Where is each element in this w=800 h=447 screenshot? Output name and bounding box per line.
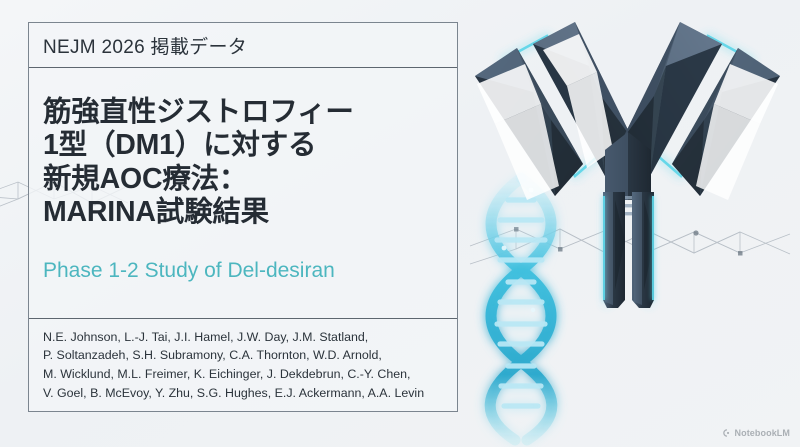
authors-line: M. Wicklund, M.L. Freimer, K. Eichinger,… (43, 365, 443, 384)
authors-line: N.E. Johnson, L.-J. Tai, J.I. Hamel, J.W… (43, 328, 443, 347)
card-body: 筋強直性ジストロフィー 1型（DM1）に対する 新規AOC療法： MARINA試… (29, 68, 457, 318)
molecular-artwork (455, 0, 800, 447)
dna-double-helix-icon (490, 178, 552, 440)
journal-source-label: NEJM 2026 掲載データ (43, 32, 443, 59)
title-line-1: 筋強直性ジストロフィー (43, 96, 443, 129)
notebooklm-watermark-label: NotebookLM (735, 428, 791, 438)
authors-line: V. Goel, B. McEvoy, Y. Zhu, S.G. Hughes,… (43, 384, 443, 403)
title-card: NEJM 2026 掲載データ 筋強直性ジストロフィー 1型（DM1）に対する … (28, 22, 458, 412)
authors-line: P. Soltanzadeh, S.H. Subramony, C.A. Tho… (43, 346, 443, 365)
page-subtitle: Phase 1-2 Study of Del-desiran (43, 258, 443, 283)
title-line-4: MARINA試験結果 (43, 196, 443, 229)
slide-canvas: NEJM 2026 掲載データ 筋強直性ジストロフィー 1型（DM1）に対する … (0, 0, 800, 447)
title-line-2: 1型（DM1）に対する (43, 129, 443, 162)
card-header: NEJM 2026 掲載データ (29, 23, 457, 68)
authors-block: N.E. Johnson, L.-J. Tai, J.I. Hamel, J.W… (29, 318, 457, 411)
notebooklm-logo-icon (722, 428, 732, 438)
title-line-3: 新規AOC療法： (43, 163, 443, 196)
antibody-y-shape-icon (475, 22, 780, 308)
page-title: 筋強直性ジストロフィー 1型（DM1）に対する 新規AOC療法： MARINA試… (43, 96, 443, 229)
notebooklm-watermark: NotebookLM (722, 428, 791, 438)
